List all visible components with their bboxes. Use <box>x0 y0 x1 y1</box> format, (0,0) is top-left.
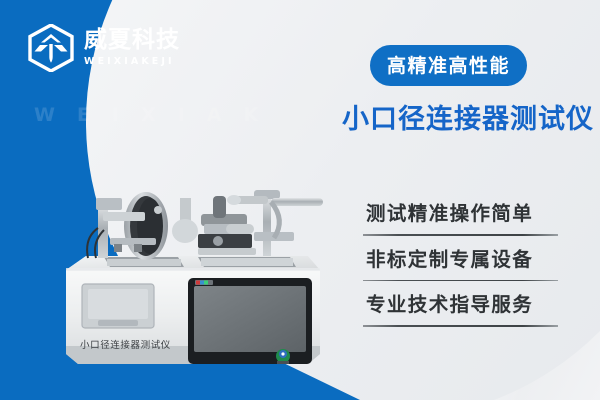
feature-label: 非标定制专属设备 <box>360 236 580 280</box>
product-photo: 小口径连接器测试仪 <box>58 168 328 374</box>
brand-logo-text: 威夏科技 WEIXIAKEJI <box>84 29 180 67</box>
hero-content: 高精准高性能 小口径连接器测试仪 测试精准操作简单 非标定制专属设备 专业技术指… <box>336 0 600 400</box>
feature-label: 专业技术指导服务 <box>360 281 580 325</box>
product-panel-label: 小口径连接器测试仪 <box>80 339 171 351</box>
product-banner: 威夏科技 WEIXIAKEJI WEIXIAK <box>0 0 600 400</box>
brand-watermark: WEIXIAK <box>34 104 280 126</box>
feature-item: 专业技术指导服务 <box>360 281 580 327</box>
hexagon-shield-arrow-logo-icon <box>28 24 74 72</box>
feature-list: 测试精准操作简单 非标定制专属设备 专业技术指导服务 <box>360 190 580 327</box>
feature-item: 非标定制专属设备 <box>360 236 580 282</box>
certification-badge-icon <box>276 349 290 364</box>
page-title: 小口径连接器测试仪 <box>337 97 599 136</box>
feature-divider <box>363 325 558 327</box>
hero-badge: 高精准高性能 <box>370 45 527 86</box>
brand-logo: 威夏科技 WEIXIAKEJI <box>28 24 180 72</box>
feature-item: 测试精准操作简单 <box>360 190 580 236</box>
feature-label: 测试精准操作简单 <box>360 190 580 234</box>
brand-name-en: WEIXIAKEJI <box>84 57 180 67</box>
brand-name-cn: 威夏科技 <box>84 29 180 52</box>
